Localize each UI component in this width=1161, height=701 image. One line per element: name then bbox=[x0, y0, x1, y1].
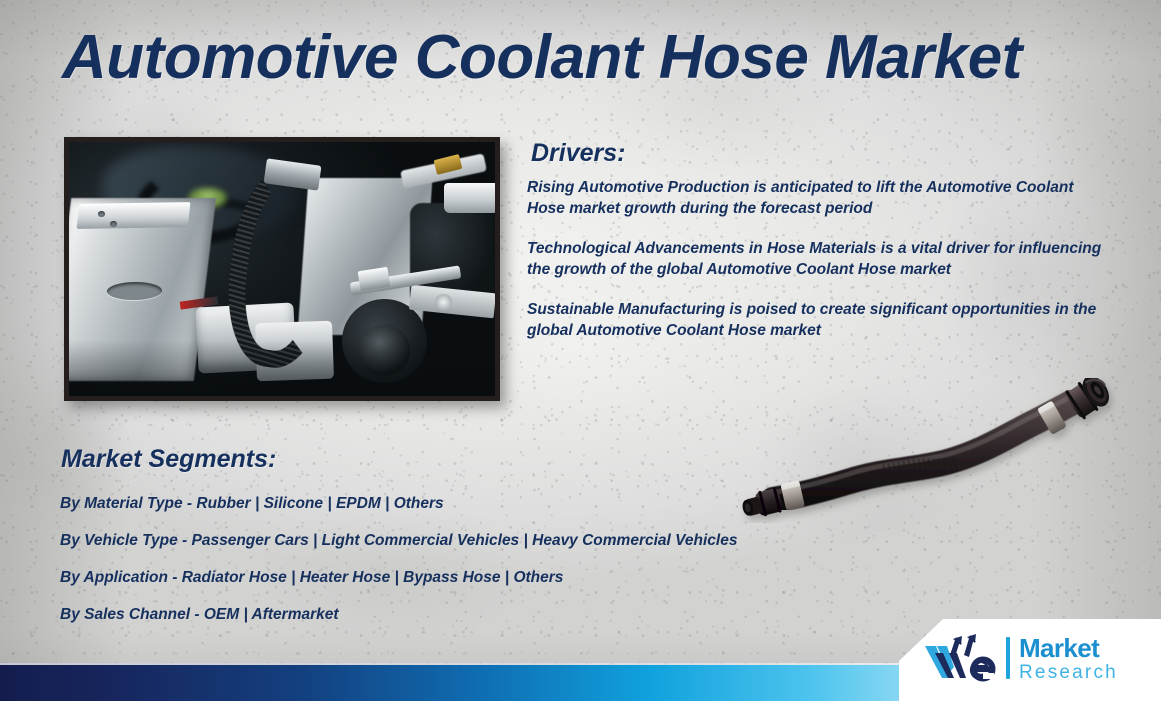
logo-word-market: Market bbox=[1019, 635, 1118, 661]
driver-item-2: Technological Advancements in Hose Mater… bbox=[527, 239, 1107, 280]
logo-wordmark: Market Research bbox=[1019, 635, 1118, 682]
engine-photo bbox=[64, 137, 500, 401]
drivers-list: Rising Automotive Production is anticipa… bbox=[527, 178, 1107, 341]
hose-illustration bbox=[735, 378, 1155, 523]
engine-photo-inner bbox=[69, 142, 495, 396]
page-title: Automotive Coolant Hose Market bbox=[62, 22, 1022, 93]
coolant-hose-product-photo bbox=[735, 378, 1155, 523]
driver-item-1: Rising Automotive Production is anticipa… bbox=[527, 178, 1107, 219]
photo-metal-cap bbox=[444, 183, 495, 213]
driver-item-3: Sustainable Manufacturing is poised to c… bbox=[527, 300, 1107, 341]
infographic-poster: Automotive Coolant Hose Market bbox=[0, 0, 1161, 701]
logo-panel: Market Research bbox=[899, 619, 1161, 701]
logo-word-research: Research bbox=[1019, 663, 1118, 682]
photo-radiator-bar bbox=[76, 202, 190, 229]
drivers-heading: Drivers: bbox=[531, 139, 626, 168]
photo-bottom-shading bbox=[69, 340, 495, 396]
photo-radiator-dot-2 bbox=[110, 221, 117, 228]
photo-radiator-dot-1 bbox=[98, 211, 105, 218]
we-arrow-logo-icon bbox=[923, 633, 997, 683]
segment-item-vehicle-type: By Vehicle Type - Passenger Cars | Light… bbox=[60, 532, 960, 550]
photo-corrugated-hose bbox=[231, 165, 333, 368]
segment-item-sales-channel: By Sales Channel - OEM | Aftermarket bbox=[60, 606, 960, 624]
logo[interactable]: Market Research bbox=[923, 633, 1118, 683]
segment-item-application: By Application - Radiator Hose | Heater … bbox=[60, 569, 960, 587]
segments-heading: Market Segments: bbox=[61, 445, 276, 474]
photo-bolt bbox=[435, 294, 452, 309]
logo-divider bbox=[1006, 637, 1010, 679]
